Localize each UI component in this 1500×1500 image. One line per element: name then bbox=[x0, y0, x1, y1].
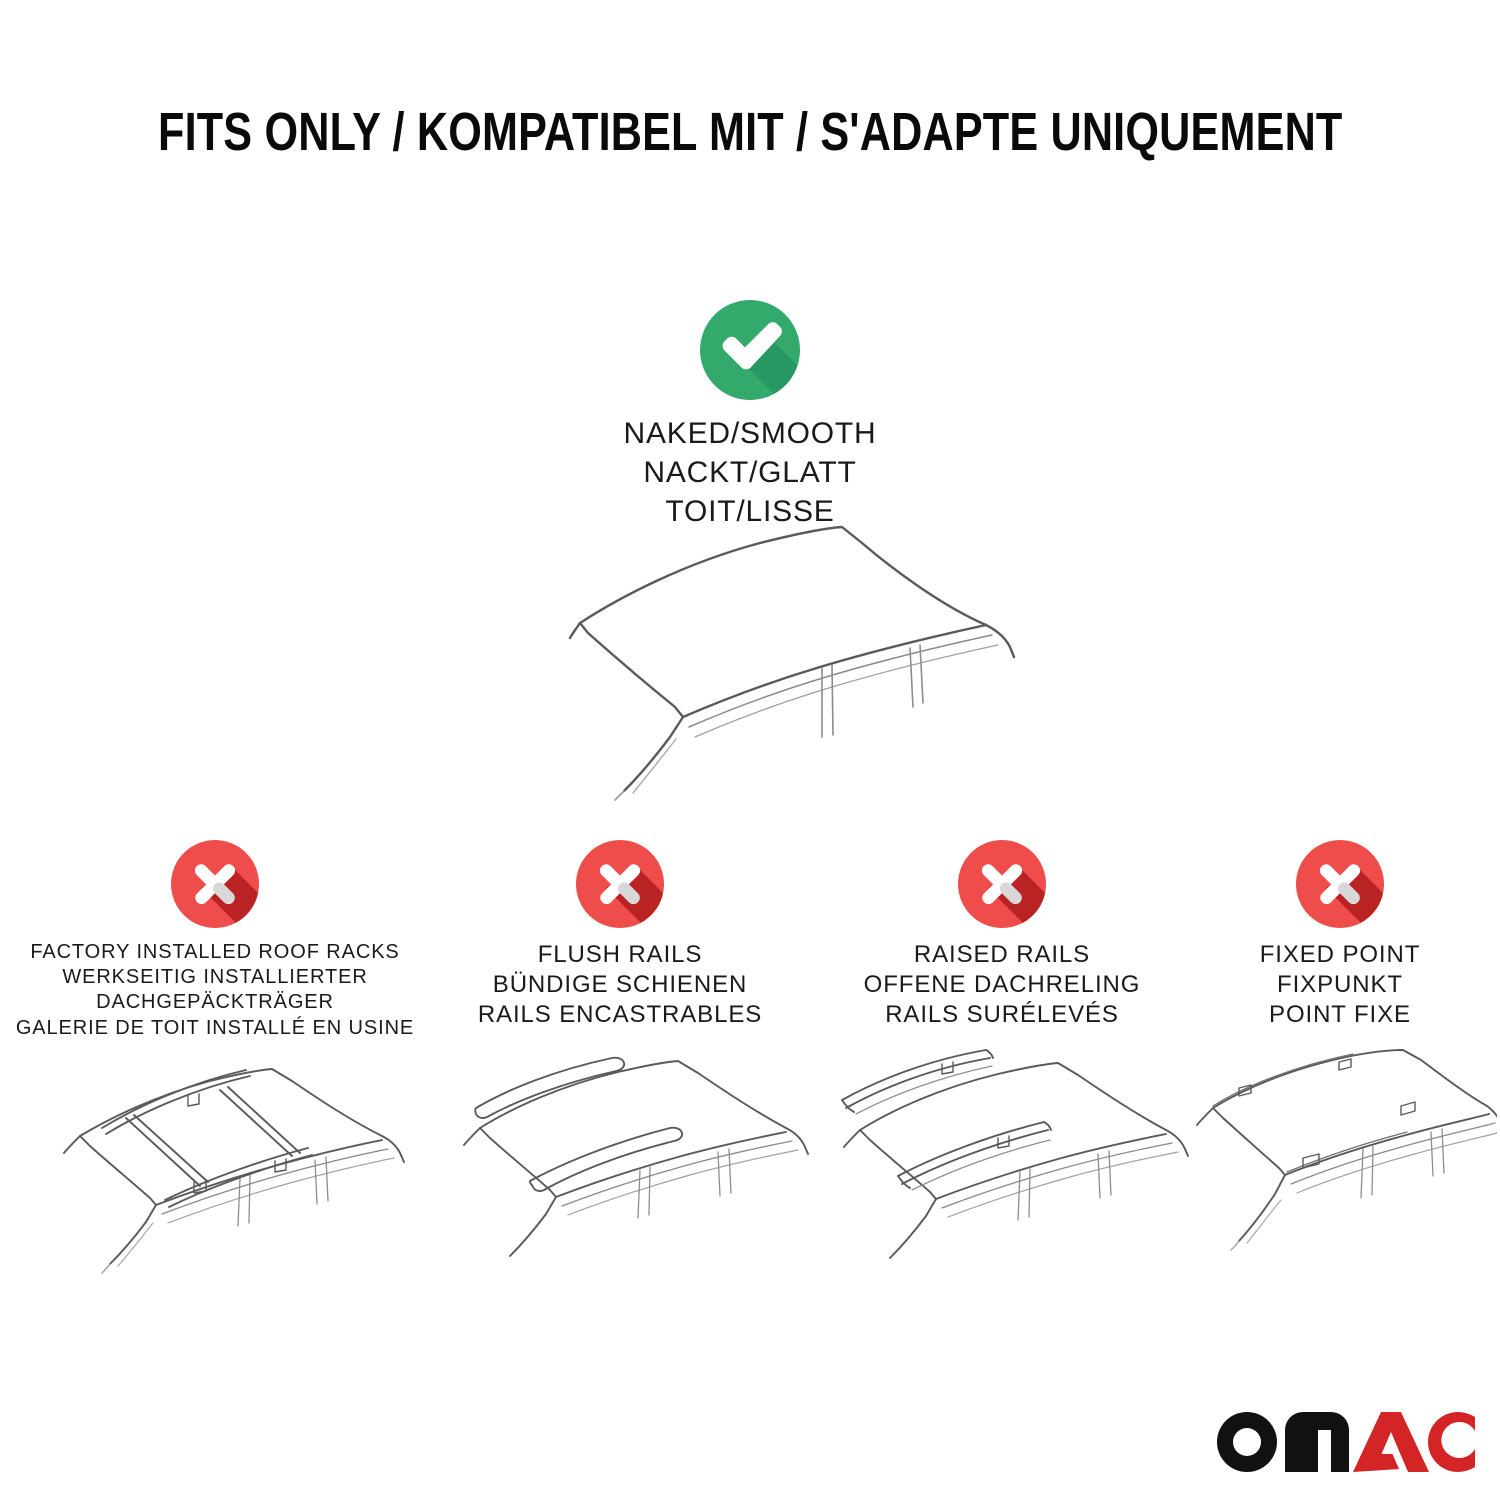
logo-letter-c bbox=[1428, 1412, 1475, 1472]
incompatible-label-1: FLUSH RAILS BÜNDIGE SCHIENEN RAILS ENCAS… bbox=[430, 940, 810, 1031]
naked-smooth-roof-illustration bbox=[470, 505, 1050, 805]
incompatible-label-2: RAISED RAILS OFFENE DACHRELING RAILS SUR… bbox=[812, 940, 1192, 1031]
page-title-text: FITS ONLY / KOMPATIBEL MIT / S'ADAPTE UN… bbox=[158, 103, 1342, 162]
label-line-3-2: POINT FIXE bbox=[1195, 1000, 1485, 1030]
logo-letter-a bbox=[1353, 1412, 1429, 1472]
label-line-0-3: GALERIE DE TOIT INSTALLÉ EN USINE bbox=[10, 1016, 420, 1041]
label-line-0-1: WERKSEITIG INSTALLIERTER bbox=[10, 965, 420, 990]
label-line-0-2: DACHGEPÄCKTRÄGER bbox=[10, 990, 420, 1015]
x-circle-icon bbox=[1296, 840, 1384, 928]
label-line-1-2: RAILS ENCASTRABLES bbox=[430, 1000, 810, 1030]
x-badge-wrapper-2 bbox=[958, 840, 1046, 928]
omac-logo bbox=[1213, 1408, 1475, 1472]
label-line-3-0: FIXED POINT bbox=[1195, 940, 1485, 970]
flush-rails-illustration bbox=[430, 1048, 810, 1288]
label-line-3-1: FIXPUNKT bbox=[1195, 970, 1485, 1000]
factory-roof-rack-illustration bbox=[10, 1048, 420, 1288]
compatible-section: NAKED/SMOOTH NACKT/GLATT TOIT/LISSE bbox=[0, 300, 1500, 531]
raised-rails-illustration bbox=[812, 1048, 1192, 1288]
incompatible-item-factory-installed-roof-racks: FACTORY INSTALLED ROOF RACKS WERKSEITIG … bbox=[10, 840, 420, 1041]
check-badge-wrapper bbox=[700, 300, 800, 400]
label-line-2-0: RAISED RAILS bbox=[812, 940, 1192, 970]
x-badge-wrapper-0 bbox=[171, 840, 259, 928]
x-circle-icon bbox=[958, 840, 1046, 928]
label-line-1-1: BÜNDIGE SCHIENEN bbox=[430, 970, 810, 1000]
logo-letter-o bbox=[1217, 1412, 1277, 1472]
incompatible-section: FACTORY INSTALLED ROOF RACKS WERKSEITIG … bbox=[0, 840, 1500, 1310]
incompatible-item-fixed-point: FIXED POINT FIXPUNKT POINT FIXE bbox=[1195, 840, 1485, 1031]
label-line-2-2: RAILS SURÉLEVÉS bbox=[812, 1000, 1192, 1030]
x-circle-icon bbox=[576, 840, 664, 928]
compatible-label-line-2: NACKT/GLATT bbox=[0, 453, 1500, 492]
incompatible-item-raised-rails: RAISED RAILS OFFENE DACHRELING RAILS SUR… bbox=[812, 840, 1192, 1031]
compatible-label-line-1: NAKED/SMOOTH bbox=[0, 414, 1500, 453]
incompatible-label-0: FACTORY INSTALLED ROOF RACKS WERKSEITIG … bbox=[10, 940, 420, 1041]
label-line-2-1: OFFENE DACHRELING bbox=[812, 970, 1192, 1000]
x-badge-wrapper-3 bbox=[1296, 840, 1384, 928]
incompatible-item-flush-rails: FLUSH RAILS BÜNDIGE SCHIENEN RAILS ENCAS… bbox=[430, 840, 810, 1031]
logo-letter-m bbox=[1285, 1412, 1349, 1472]
label-line-1-0: FLUSH RAILS bbox=[430, 940, 810, 970]
check-circle-icon bbox=[700, 300, 800, 400]
label-line-0-0: FACTORY INSTALLED ROOF RACKS bbox=[10, 940, 420, 965]
x-badge-wrapper-1 bbox=[576, 840, 664, 928]
page-title: FITS ONLY / KOMPATIBEL MIT / S'ADAPTE UN… bbox=[0, 103, 1500, 162]
fixed-point-illustration bbox=[1187, 1048, 1497, 1288]
incompatible-label-3: FIXED POINT FIXPUNKT POINT FIXE bbox=[1195, 940, 1485, 1031]
x-circle-icon bbox=[171, 840, 259, 928]
